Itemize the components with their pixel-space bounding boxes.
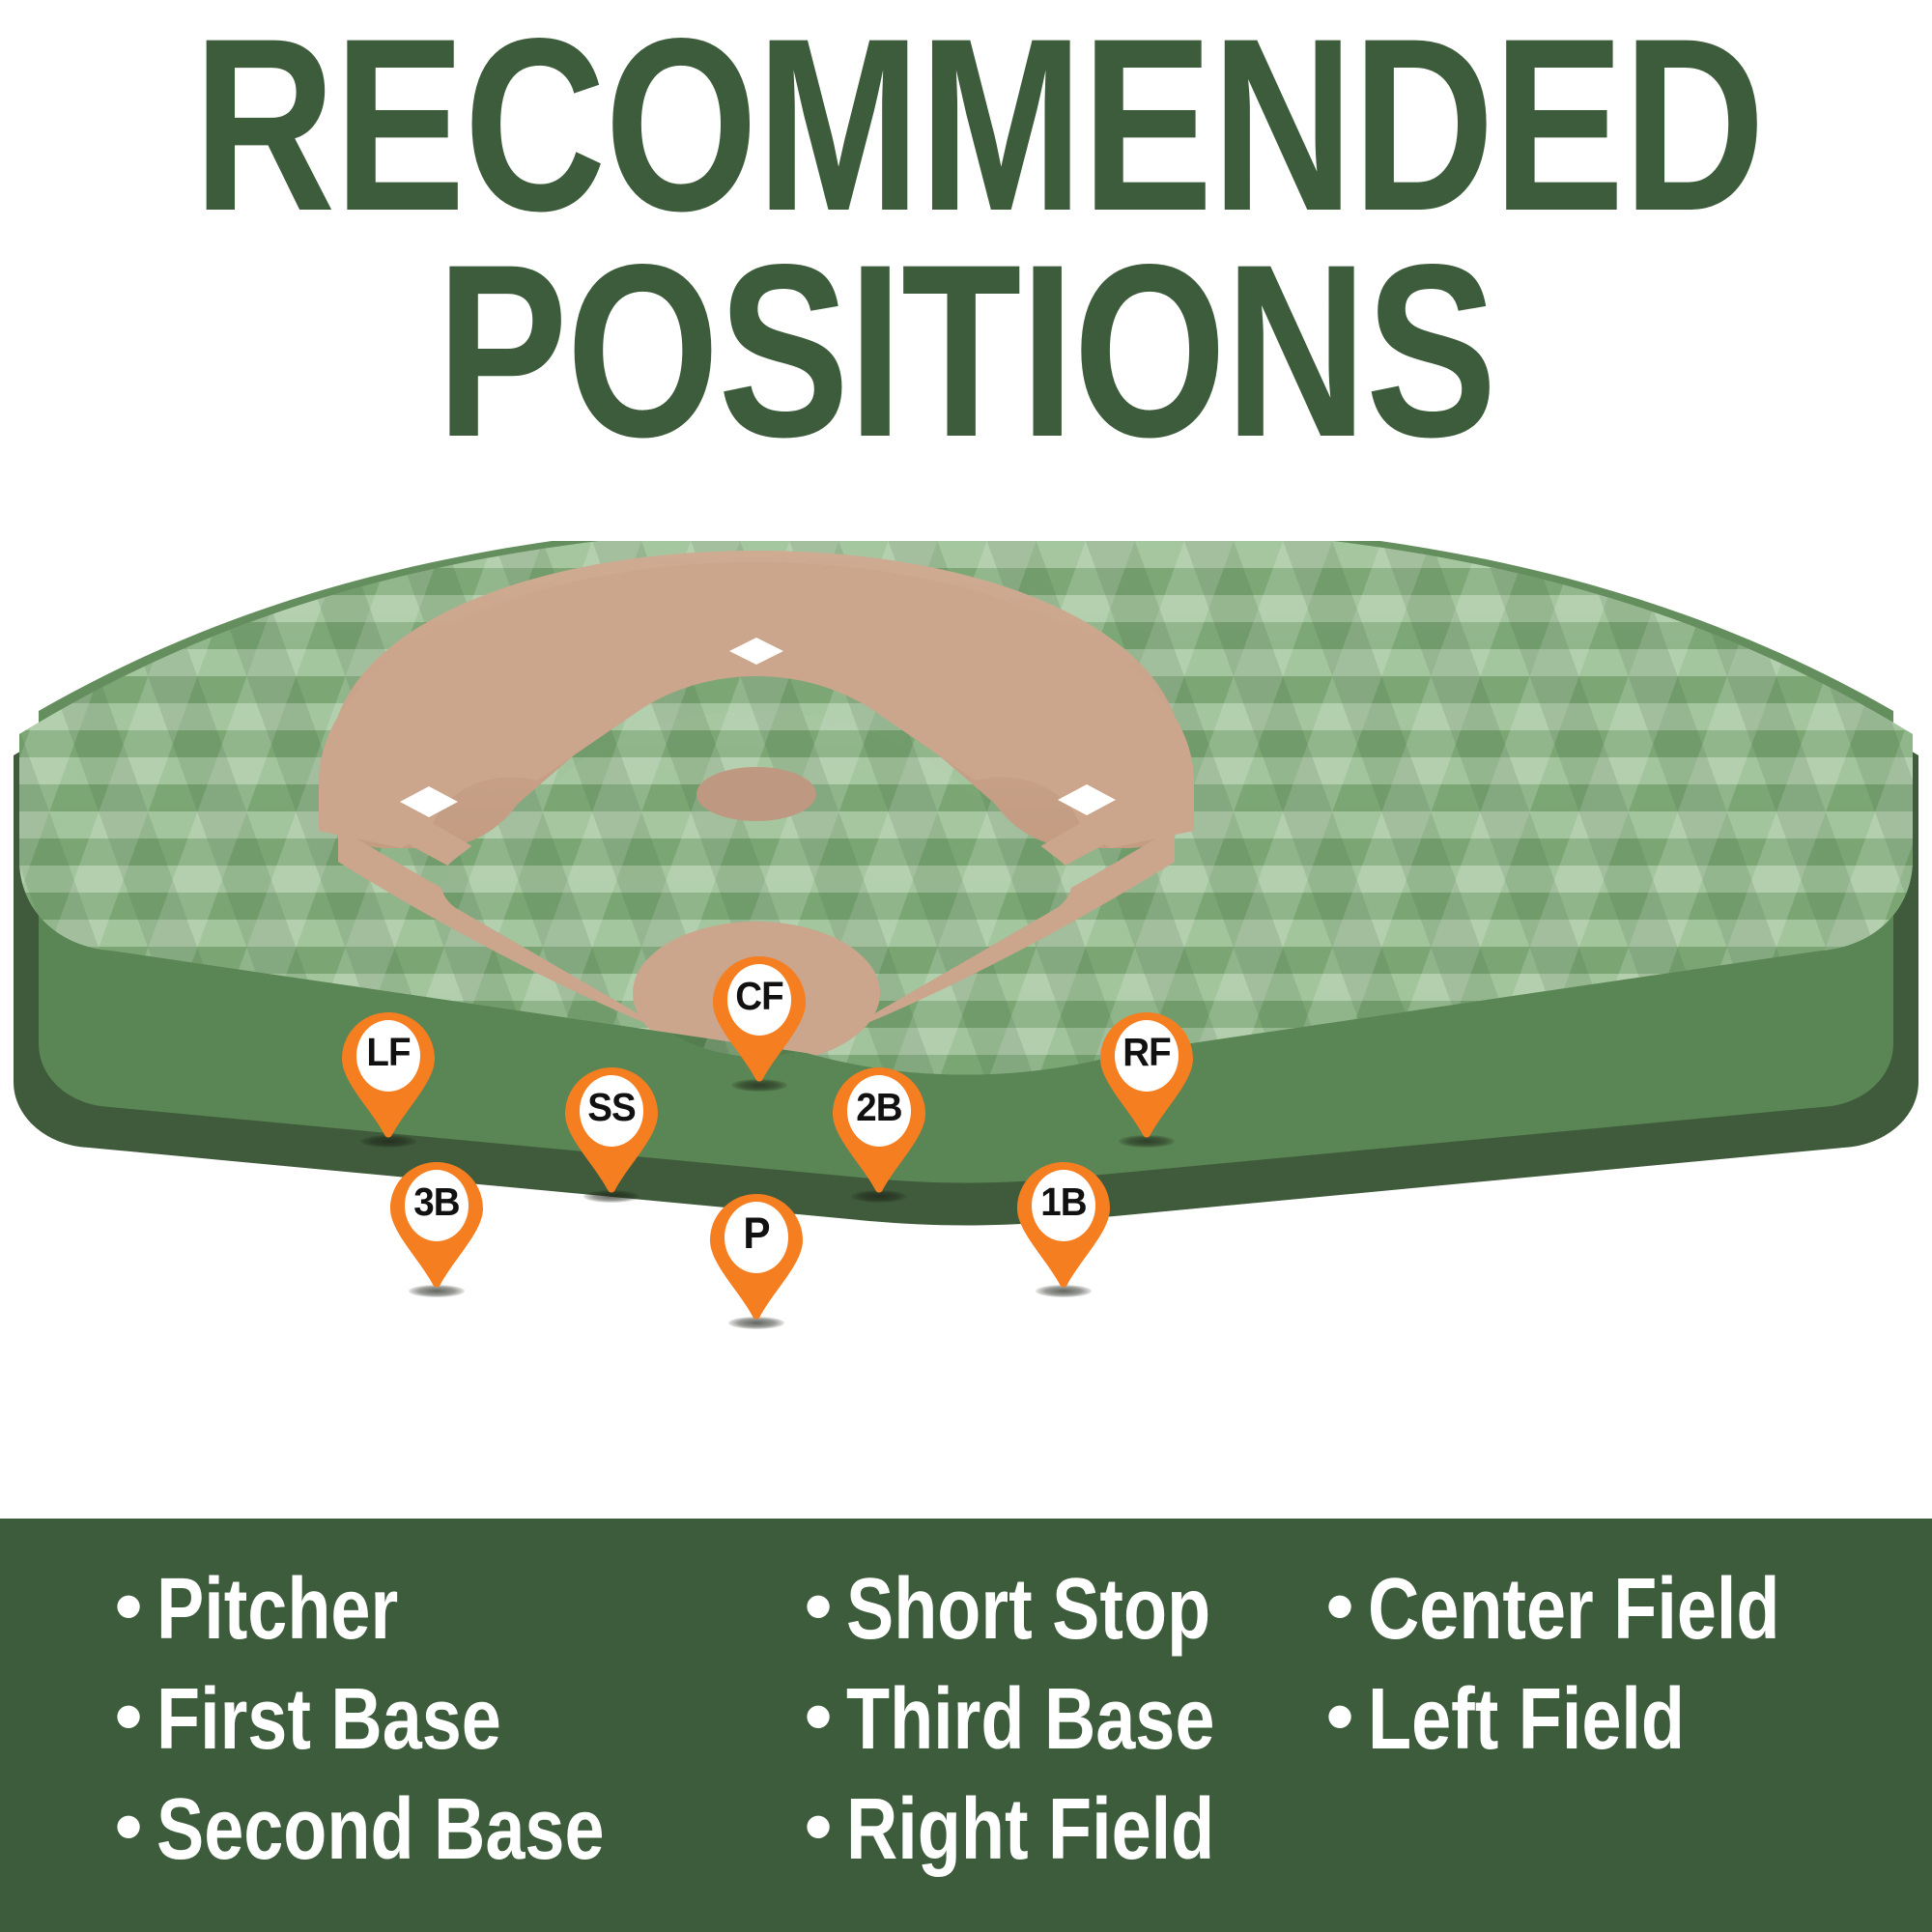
bullet-icon: •	[804, 1785, 833, 1868]
position-pin-label: SS	[568, 1067, 655, 1147]
position-pin-third-base[interactable]: 3B	[390, 1162, 483, 1290]
legend-item-first-base[interactable]: • First Base	[114, 1667, 638, 1774]
position-pin-label: CF	[716, 956, 803, 1036]
position-pin-second-base[interactable]: 2B	[833, 1067, 925, 1195]
position-pin-pitcher[interactable]: P	[710, 1194, 803, 1321]
legend-column-2: • Short Stop • Third Base • Right Field	[638, 1557, 1236, 1883]
field-graphic	[0, 541, 1932, 1536]
title-line-1: RECOMMENDED	[193, 17, 1739, 234]
legend-item-pitcher[interactable]: • Pitcher	[114, 1557, 638, 1663]
legend-item-label: Center Field	[1368, 1557, 1779, 1663]
legend-item-second-base[interactable]: • Second Base	[114, 1777, 638, 1884]
legend-item-left-field[interactable]: • Left Field	[1325, 1667, 1932, 1774]
position-pin-label: RF	[1103, 1012, 1190, 1092]
bullet-icon: •	[804, 1565, 833, 1648]
position-pin-label: 1B	[1020, 1162, 1107, 1241]
position-pin-center-field[interactable]: CF	[713, 956, 806, 1084]
title-line-2: POSITIONS	[193, 243, 1739, 460]
legend-item-label: First Base	[156, 1667, 501, 1774]
position-pin-label: 2B	[836, 1067, 923, 1147]
legend-column-3: • Center Field • Left Field	[1236, 1557, 1932, 1774]
position-pin-label: P	[713, 1194, 800, 1273]
position-pin-short-stop[interactable]: SS	[565, 1067, 658, 1195]
position-pin-first-base[interactable]: 1B	[1017, 1162, 1110, 1290]
legend-item-label: Left Field	[1368, 1667, 1685, 1774]
baseball-field-diagram: LF CF RF SS 2B 3B	[0, 541, 1932, 1536]
position-pin-right-field[interactable]: RF	[1100, 1012, 1193, 1140]
position-pin-label: LF	[345, 1012, 432, 1092]
legend-item-short-stop[interactable]: • Short Stop	[804, 1557, 1236, 1663]
bullet-icon: •	[1325, 1675, 1354, 1758]
bullet-icon: •	[804, 1675, 833, 1758]
bullet-icon: •	[114, 1675, 143, 1758]
legend-item-label: Short Stop	[846, 1557, 1210, 1663]
legend-item-right-field[interactable]: • Right Field	[804, 1777, 1236, 1884]
position-pin-left-field[interactable]: LF	[342, 1012, 435, 1140]
legend-item-label: Right Field	[846, 1777, 1214, 1884]
legend-item-label: Pitcher	[156, 1557, 398, 1663]
bullet-icon: •	[1325, 1565, 1354, 1648]
legend-item-third-base[interactable]: • Third Base	[804, 1667, 1236, 1774]
legend-column-1: • Pitcher • First Base • Second Base	[0, 1557, 638, 1883]
page-title: RECOMMENDED POSITIONS	[0, 17, 1932, 461]
poster-root: RECOMMENDED POSITIONS	[0, 0, 1932, 1932]
pitchers-mound	[696, 767, 816, 821]
position-pin-label: 3B	[393, 1162, 480, 1241]
bullet-icon: •	[114, 1785, 143, 1868]
legend-item-label: Third Base	[846, 1667, 1214, 1774]
bullet-icon: •	[114, 1565, 143, 1648]
legend-bar: • Pitcher • First Base • Second Base • S…	[0, 1519, 1932, 1932]
legend-item-center-field[interactable]: • Center Field	[1325, 1557, 1932, 1663]
legend-item-label: Second Base	[156, 1777, 604, 1884]
